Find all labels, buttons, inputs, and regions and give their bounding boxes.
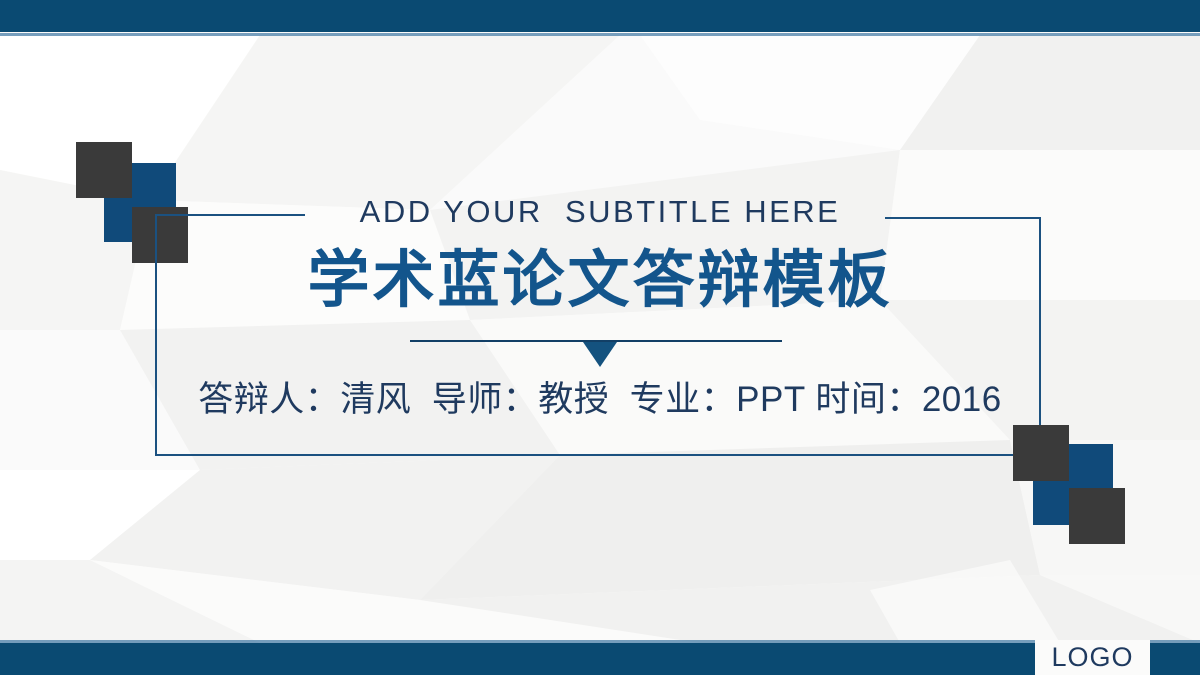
frame-line-bottom-left: [155, 454, 275, 456]
frame-line-bottom-span: [273, 454, 1041, 456]
presentation-slide: ADD YOUR SUBTITLE HERE 学术蓝论文答辩模板 答辩人：清风 …: [0, 0, 1200, 675]
decor-square-bottom-right-dark-1: [1013, 425, 1069, 481]
decor-square-top-left-dark-1: [76, 142, 132, 198]
divider-triangle-icon: [583, 342, 617, 367]
logo-placeholder: LOGO: [1035, 640, 1150, 675]
logo-label: LOGO: [1051, 644, 1133, 671]
decor-square-bottom-right-dark-2: [1069, 488, 1125, 544]
background-polygon-pattern: [0, 0, 1200, 675]
top-bar-accent-line: [0, 33, 1200, 36]
top-bar: [0, 0, 1200, 32]
slide-subtitle: ADD YOUR SUBTITLE HERE: [0, 196, 1200, 227]
presenter-info-line: 答辩人：清风 导师：教授 专业：PPT 时间：2016: [0, 382, 1200, 417]
bottom-bar: [0, 643, 1200, 675]
slide-title: 学术蓝论文答辩模板: [0, 248, 1200, 313]
